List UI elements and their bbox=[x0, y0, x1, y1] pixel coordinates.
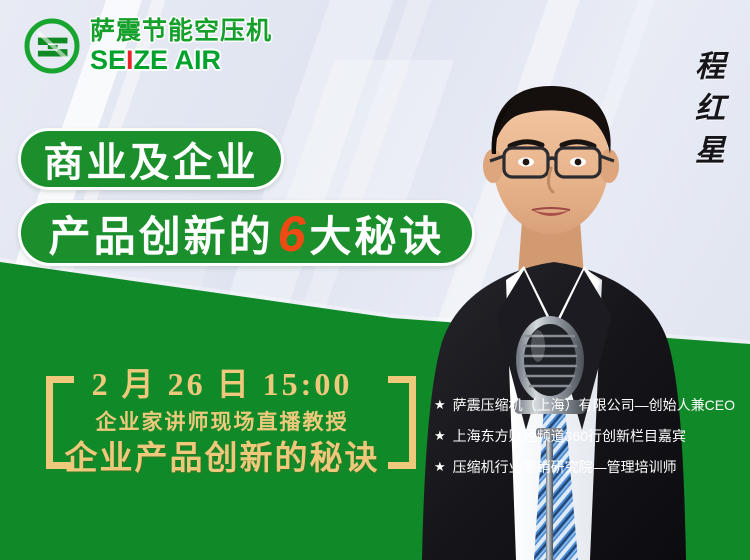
brand-name-en-prefix: SE bbox=[90, 45, 126, 75]
sz-monogram-circle-icon bbox=[24, 18, 80, 74]
brand-name-en-suffix: ZE AIR bbox=[134, 45, 222, 75]
headline-number-six: 6 bbox=[274, 206, 310, 262]
credential-text: 压缩机行业营销研究院—管理培训师 bbox=[453, 458, 677, 477]
event-details: 2 月 26 日 15:00 企业家讲师现场直播教授 企业产品创新的秘诀 bbox=[42, 368, 402, 476]
brand-logo-text: 萨震节能空压机 SEIZE AIR bbox=[90, 19, 272, 74]
speaker-name-vertical: 程红星 bbox=[674, 50, 728, 176]
list-item: ★ 上海东方财经频道360行创新栏目嘉宾 bbox=[434, 427, 734, 446]
headline-line2-text: 产品创新的6大秘诀 bbox=[49, 203, 445, 264]
credential-text: 萨震压缩机（上海）有限公司—创始人兼CEO bbox=[453, 396, 735, 415]
brand-name-en: SEIZE AIR bbox=[90, 47, 272, 74]
star-icon: ★ bbox=[434, 458, 446, 477]
headline-pill-line1: 商业及企业 bbox=[18, 128, 284, 190]
brand-logo: 萨震节能空压机 SEIZE AIR bbox=[24, 18, 272, 74]
list-item: ★ 压缩机行业营销研究院—管理培训师 bbox=[434, 458, 734, 477]
brand-name-cn: 萨震节能空压机 bbox=[90, 19, 272, 44]
list-item: ★ 萨震压缩机（上海）有限公司—创始人兼CEO bbox=[434, 396, 734, 415]
bracket-right-stem bbox=[409, 376, 416, 469]
brand-name-en-highlight: I bbox=[126, 45, 134, 75]
star-icon: ★ bbox=[434, 396, 446, 415]
promotional-banner: 萨震节能空压机 SEIZE AIR 程红星 商业及企业 产品创新的6大秘诀 2 … bbox=[0, 0, 750, 560]
headline-pill-line2: 产品创新的6大秘诀 bbox=[18, 200, 475, 266]
headline-line1-text: 商业及企业 bbox=[44, 130, 259, 188]
star-icon: ★ bbox=[434, 427, 446, 446]
event-topic: 企业产品创新的秘诀 bbox=[42, 442, 402, 477]
event-datetime: 2 月 26 日 15:00 bbox=[42, 368, 402, 402]
headline-line2-after: 大秘诀 bbox=[309, 213, 444, 260]
credentials-list: ★ 萨震压缩机（上海）有限公司—创始人兼CEO ★ 上海东方财经频道360行创新… bbox=[434, 396, 734, 489]
headline-line2-before: 产品创新的 bbox=[49, 213, 274, 260]
event-subtitle: 企业家讲师现场直播教授 bbox=[42, 411, 402, 433]
credential-text: 上海东方财经频道360行创新栏目嘉宾 bbox=[453, 427, 686, 446]
